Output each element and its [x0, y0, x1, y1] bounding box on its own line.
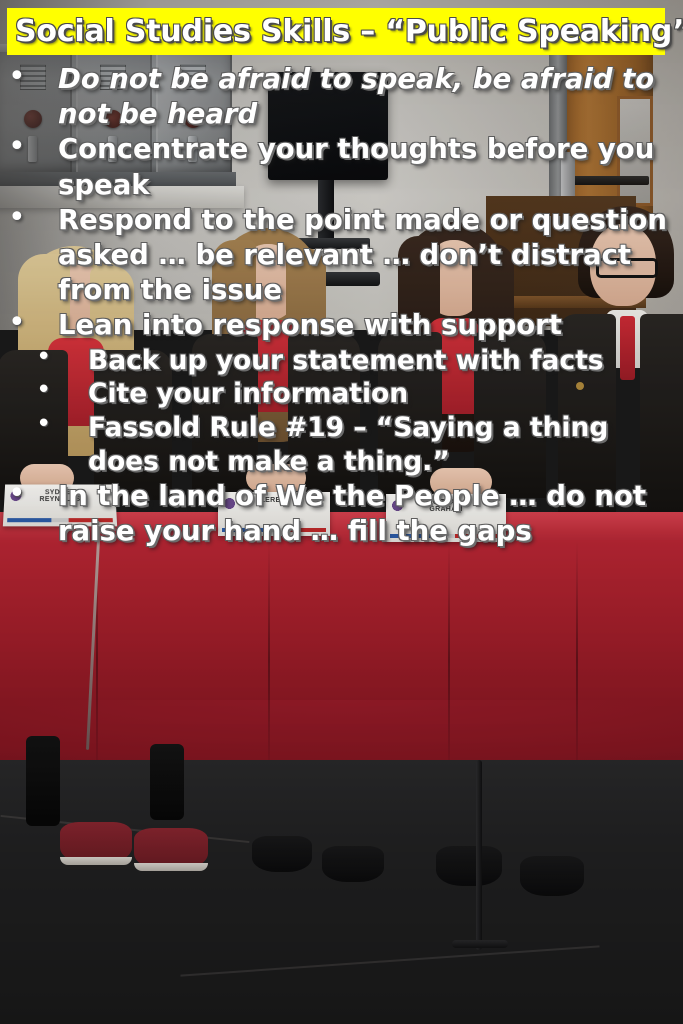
list-item-text: Concentrate your thoughts before you spe… — [58, 132, 683, 202]
bullet-glyph: • — [8, 62, 58, 92]
list-item: • Concentrate your thoughts before you s… — [0, 132, 683, 202]
bullet-glyph: • — [8, 479, 58, 509]
bullet-glyph: • — [8, 132, 58, 162]
bullet-glyph: • — [36, 377, 88, 403]
bullet-glyph: • — [8, 203, 58, 233]
list-item-text: Back up your statement with facts — [88, 344, 683, 378]
bullet-glyph: • — [8, 308, 58, 338]
list-item-text: Fassold Rule #19 – “Saying a thing does … — [88, 411, 683, 479]
list-item: • Cite your information — [0, 377, 683, 411]
page-title: Social Studies Skills – “Public Speaking… — [7, 17, 683, 47]
list-item-text: Cite your information — [88, 377, 683, 411]
bullet-glyph: • — [36, 344, 88, 370]
list-item: • Fassold Rule #19 – “Saying a thing doe… — [0, 411, 683, 479]
list-item-text: Lean into response with support — [58, 308, 683, 343]
list-item-text: In the land of We the People … do not ra… — [58, 479, 683, 549]
slide-text-overlay: Social Studies Skills – “Public Speaking… — [0, 0, 683, 1024]
list-item-text: Do not be afraid to speak, be afraid to … — [58, 62, 683, 132]
list-item-text: Respond to the point made or question as… — [58, 203, 683, 309]
bullet-glyph: • — [36, 411, 88, 437]
list-item: • Back up your statement with facts — [0, 344, 683, 378]
presentation-slide: SYDNEY REYNOLDS LEREW NATHAN GRAHAM — [0, 0, 683, 1024]
list-item: • Lean into response with support — [0, 308, 683, 343]
list-item: • Do not be afraid to speak, be afraid t… — [0, 62, 683, 132]
list-item: • In the land of We the People … do not … — [0, 479, 683, 549]
slide-title-highlight: Social Studies Skills – “Public Speaking… — [7, 8, 665, 55]
list-item: • Respond to the point made or question … — [0, 203, 683, 309]
bullet-list: • Do not be afraid to speak, be afraid t… — [0, 62, 683, 550]
